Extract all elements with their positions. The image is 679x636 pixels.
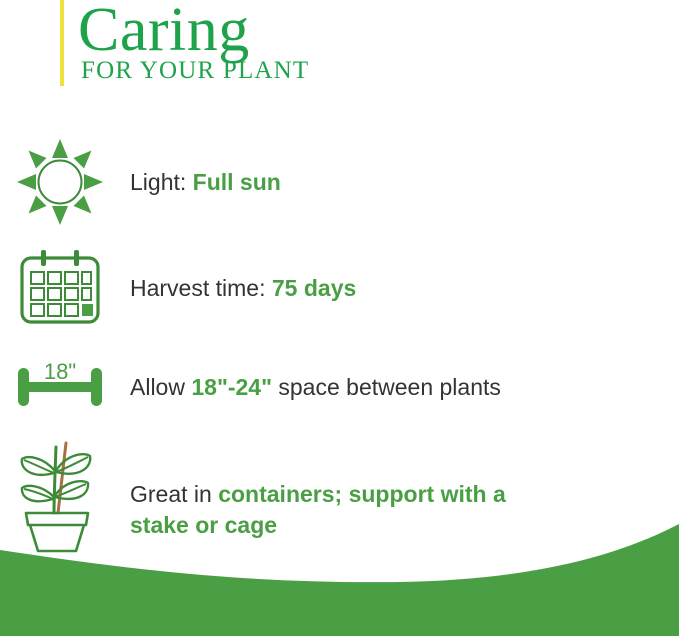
harvest-label: Harvest time: bbox=[130, 275, 272, 301]
container-label: Great in bbox=[130, 481, 218, 507]
spacing-value: 18"-24" bbox=[191, 374, 272, 400]
bottom-wave-shape bbox=[0, 516, 679, 636]
spacing-icon-wrap: 18" bbox=[0, 360, 120, 414]
page-header: Caring FOR YOUR PLANT bbox=[0, 0, 679, 104]
spacing-icon-label: 18" bbox=[44, 359, 76, 384]
calendar-icon-wrap bbox=[0, 250, 120, 326]
calendar-icon bbox=[17, 250, 103, 326]
care-row-spacing-text: Allow 18"-24" space between plants bbox=[120, 372, 501, 403]
care-row-harvest: Harvest time: 75 days bbox=[0, 252, 679, 324]
spacing-label-after: space between plants bbox=[272, 374, 501, 400]
care-row-harvest-text: Harvest time: 75 days bbox=[120, 273, 356, 304]
page-subtitle: FOR YOUR PLANT bbox=[78, 58, 498, 84]
care-row-light: Light: Full sun bbox=[0, 150, 679, 214]
care-row-light-text: Light: Full sun bbox=[120, 167, 281, 198]
spacing-label: Allow bbox=[130, 374, 191, 400]
sun-icon bbox=[17, 139, 103, 225]
header-text-group: Caring FOR YOUR PLANT bbox=[78, 0, 498, 84]
light-value: Full sun bbox=[193, 169, 281, 195]
page-title: Caring bbox=[78, 0, 498, 62]
light-label: Light: bbox=[130, 169, 193, 195]
bottom-wave-decoration bbox=[0, 516, 679, 636]
header-accent-bar bbox=[60, 0, 64, 86]
spacing-icon: 18" bbox=[10, 360, 110, 414]
harvest-value: 75 days bbox=[272, 275, 356, 301]
care-row-spacing: 18" Allow 18"-24" space between plants bbox=[0, 360, 679, 414]
sun-icon-wrap bbox=[0, 139, 120, 225]
